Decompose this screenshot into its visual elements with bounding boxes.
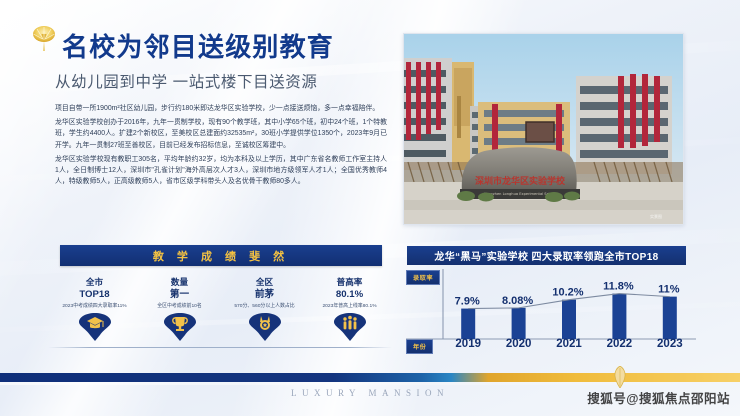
- footer-gradient-bar: [0, 373, 740, 382]
- stat-note: 全区中考成绩前10名: [137, 302, 222, 309]
- stat-label: 全市: [52, 277, 137, 289]
- graduation-cap-icon: [78, 313, 112, 341]
- diamond-icon: [613, 366, 627, 388]
- chart-x-tick-labels: 2019 2020 2021 2022 2023: [443, 338, 695, 350]
- svg-text:10.2%: 10.2%: [552, 287, 583, 299]
- body-copy: 项目自带一所1900m²社区幼儿园，步行约180米即达龙华区实验学校，少一点接送…: [55, 103, 387, 190]
- watermark-text: 搜狐号@搜狐焦点邵阳站: [587, 388, 730, 407]
- starburst-icon: [31, 24, 57, 52]
- stat-note: 2023中考成绩四大录取率11%: [52, 302, 137, 309]
- section-divider: [48, 347, 392, 348]
- x-tick: 2019: [443, 338, 493, 350]
- stat-item: 普高率 80.1% 2023年普高上线率80.1%: [307, 277, 392, 341]
- school-campus-photo: 深圳市龙华区实验学校 Shenzhen Longhua Experimental…: [403, 33, 684, 225]
- x-tick: 2020: [493, 338, 543, 350]
- svg-text:Shenzhen Longhua Experimental: Shenzhen Longhua Experimental School: [484, 192, 556, 196]
- stat-value: 第一: [137, 289, 222, 301]
- slide-root: 名校为邻目送级别教育 从幼儿园到中学 一站式楼下目送资源 项目自带一所1900m…: [0, 0, 740, 416]
- body-paragraph-1: 项目自带一所1900m²社区幼儿园，步行约180米即达龙华区实验学校，少一点接送…: [55, 103, 387, 114]
- x-tick: 2022: [594, 338, 644, 350]
- stat-label: 全区: [222, 277, 307, 289]
- chart-title-bar: 龙华“黑马”实验学校 四大录取率领跑全市TOP18: [407, 246, 686, 265]
- stat-item: 全区 前茅 570分、560分以上人数占比: [222, 277, 307, 341]
- stat-label: 数量: [137, 277, 222, 289]
- medal-icon: [248, 313, 282, 341]
- page-title: 名校为邻目送级别教育: [62, 27, 334, 64]
- ribbon-label: 教 学 成 绩 斐 然: [153, 248, 289, 264]
- stat-value: TOP18: [52, 289, 137, 301]
- body-paragraph-3: 龙华区实验学校现有教职工305名，平均年龄约32岁，均为本科及以上学历，其中广东…: [55, 154, 387, 188]
- page-subtitle: 从幼儿园到中学 一站式楼下目送资源: [55, 70, 318, 92]
- stat-item: 全市 TOP18 2023中考成绩四大录取率11%: [52, 277, 137, 341]
- svg-text:8.08%: 8.08%: [502, 295, 533, 307]
- body-paragraph-2: 龙华区实验学校创办于2016年，九年一贯制学校，现有90个教学班，其中小学65个…: [55, 117, 387, 151]
- x-tick: 2023: [645, 338, 695, 350]
- stats-row: 全市 TOP18 2023中考成绩四大录取率11% 数量 第一 全区中考成绩前1…: [52, 277, 392, 341]
- stat-value: 80.1%: [307, 289, 392, 301]
- chart-title: 龙华“黑马”实验学校 四大录取率领跑全市TOP18: [434, 248, 658, 263]
- stat-note: 2023年普高上线率80.1%: [307, 302, 392, 309]
- svg-text:深圳市龙华区实验学校: 深圳市龙华区实验学校: [475, 175, 566, 187]
- people-chart-icon: [333, 313, 367, 341]
- stat-note: 570分、560分以上人数占比: [222, 302, 307, 309]
- x-tick: 2021: [544, 338, 594, 350]
- stat-value: 前茅: [222, 289, 307, 301]
- svg-text:7.9%: 7.9%: [455, 296, 480, 308]
- stat-label: 普高率: [307, 277, 392, 289]
- svg-text:实景图: 实景图: [650, 213, 662, 219]
- section-ribbon-teaching-results: 教 学 成 绩 斐 然: [60, 245, 382, 266]
- stat-item: 数量 第一 全区中考成绩前10名: [137, 277, 222, 341]
- trophy-icon: [163, 313, 197, 341]
- svg-text:11.8%: 11.8%: [603, 281, 634, 293]
- svg-text:11%: 11%: [658, 284, 680, 296]
